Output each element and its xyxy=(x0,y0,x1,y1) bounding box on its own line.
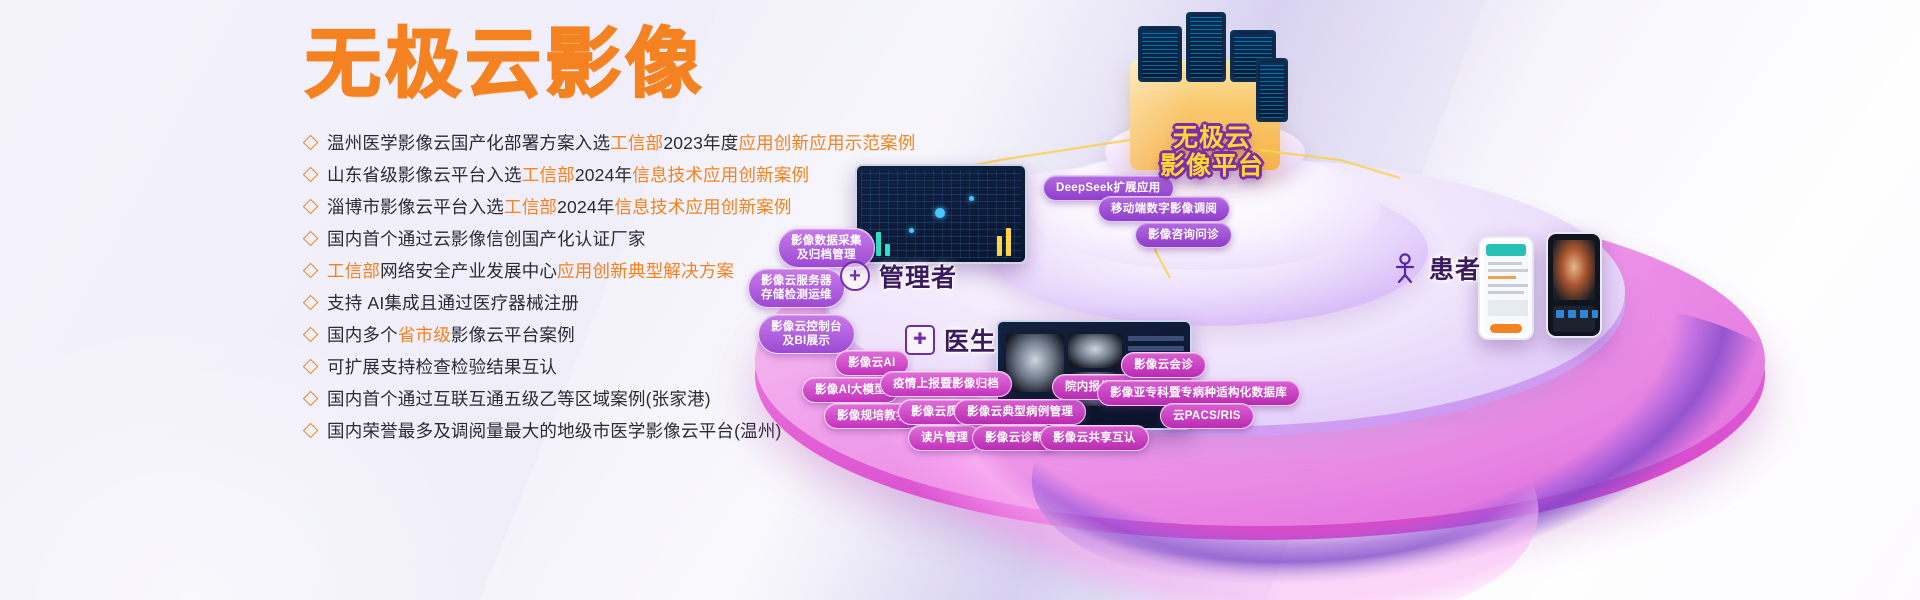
core-tower-left xyxy=(1138,26,1182,82)
diamond-bullet-icon xyxy=(303,135,319,151)
bullet-text-plain: 可扩展支持检查检验结果互认 xyxy=(327,357,557,377)
bullet-text-highlight: 工信部 xyxy=(610,133,663,153)
bullet-text: 国内首个通过互联互通五级乙等区域案例(张家港) xyxy=(327,383,711,415)
core-tower-far xyxy=(1256,58,1288,122)
bullet-text-plain: 2024年 xyxy=(575,165,632,185)
core-tower-center xyxy=(1186,12,1226,82)
diamond-bullet-icon xyxy=(303,263,319,279)
bullet-text-plain: 国内多个 xyxy=(327,325,398,345)
bullet-text-plain: 国内首个通过云影像信创国产化认证厂家 xyxy=(327,229,646,249)
center-label-line1: 无极云 xyxy=(1142,124,1282,152)
role-admin: + 管理者 xyxy=(840,258,957,294)
bullet-text-highlight: 工信部 xyxy=(327,261,380,281)
center-platform-label: 无极云 影像平台 xyxy=(1142,124,1282,180)
bullet-text: 可扩展支持检查检验结果互认 xyxy=(327,351,557,383)
plus-circle-icon: + xyxy=(840,261,870,291)
pill-p-read-mgmt[interactable]: 读片管理 xyxy=(908,425,981,451)
diamond-bullet-icon xyxy=(303,167,319,183)
pill-p-consult[interactable]: 影像云会诊 xyxy=(1121,352,1206,378)
diamond-bullet-icon xyxy=(303,295,319,311)
bullet-text-plain: 网络安全产业发展中心 xyxy=(380,261,557,281)
pill-p-patient-consult[interactable]: 影像咨询问诊 xyxy=(1135,222,1232,248)
bullet-text-highlight: 工信部 xyxy=(522,165,575,185)
diamond-bullet-icon xyxy=(303,423,319,439)
bullet-text-highlight: 省市级 xyxy=(398,325,451,345)
device-patient-phone-report xyxy=(1478,236,1534,340)
bullet-text: 国内多个省市级影像云平台案例 xyxy=(327,319,575,351)
diamond-bullet-icon xyxy=(303,359,319,375)
device-patient-phone-xray xyxy=(1546,232,1602,338)
bullet-text: 支持 AI集成且通过医疗器械注册 xyxy=(327,287,579,319)
bullet-text-plain: 支持 AI集成且通过医疗器械注册 xyxy=(327,293,579,313)
bullet-text-plain: 山东省级影像云平台入选 xyxy=(327,165,522,185)
role-admin-label: 管理者 xyxy=(879,258,957,294)
pill-p-console-bi[interactable]: 影像云控制台 及BI展示 xyxy=(758,314,855,354)
pill-p-case-mgmt[interactable]: 影像云典型病例管理 xyxy=(954,399,1086,425)
bullet-text: 国内首个通过云影像信创国产化认证厂家 xyxy=(327,223,646,255)
diamond-bullet-icon xyxy=(303,231,319,247)
role-patient-label: 患者 xyxy=(1429,250,1481,286)
center-label-line2: 影像平台 xyxy=(1142,152,1282,180)
person-icon xyxy=(1390,253,1420,283)
diamond-bullet-icon xyxy=(303,327,319,343)
doctor-badge-icon: ✚ xyxy=(905,325,935,355)
bullet-text-plain: 国内首个通过互联互通五级乙等区域案例(张家港) xyxy=(327,389,711,409)
page-title: 无极云影像 xyxy=(305,26,705,102)
device-dashboard-monitor xyxy=(855,164,1027,264)
bullet-text-plain: 温州医学影像云国产化部署方案入选 xyxy=(327,133,610,153)
pill-p-pacs-ris[interactable]: 云PACS/RIS xyxy=(1160,403,1254,429)
banner-root: 无极云影像 温州医学影像云国产化部署方案入选工信部2023年度应用创新应用示范案… xyxy=(0,0,1920,600)
diamond-bullet-icon xyxy=(303,391,319,407)
pill-p-share-auth[interactable]: 影像云共享互认 xyxy=(1040,425,1149,451)
bullet-text-plain: 淄博市影像云平台入选 xyxy=(327,197,504,217)
platform-diagram: 无极云 影像平台 + 管理者 ✚ 医生 患者 xyxy=(700,0,1920,600)
role-doctor: ✚ 医生 xyxy=(905,322,996,358)
diamond-bullet-icon xyxy=(303,199,319,215)
pill-p-mobile-view[interactable]: 移动端数字影像调阅 xyxy=(1098,196,1230,222)
bullet-text-highlight: 工信部 xyxy=(504,197,557,217)
pill-p-epidemic[interactable]: 疫情上报暨影像归档 xyxy=(880,371,1012,397)
bullet-text: 工信部网络安全产业发展中心应用创新典型解决方案 xyxy=(327,255,734,287)
pill-p-server-ops[interactable]: 影像云服务器 存储检测运维 xyxy=(748,268,845,308)
bullet-text-plain: 影像云平台案例 xyxy=(451,325,575,345)
bullet-text-plain: 2024年 xyxy=(557,197,614,217)
role-patient: 患者 xyxy=(1390,250,1481,286)
role-doctor-label: 医生 xyxy=(944,322,996,358)
